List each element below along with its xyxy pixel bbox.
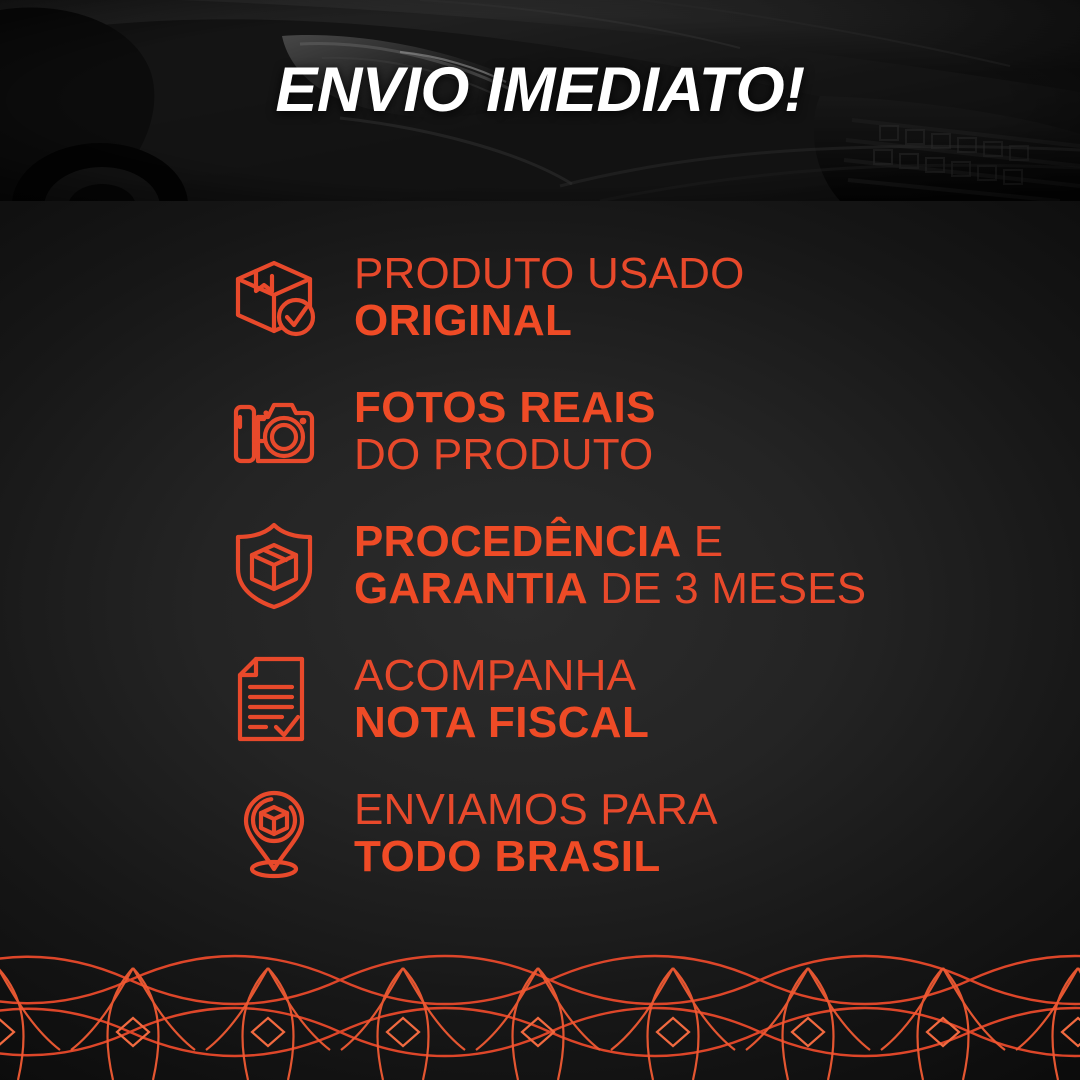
feature-line-1-bold: PROCEDÊNCIA [354,517,681,566]
feature-item-produto-original: PRODUTO USADO ORIGINAL [222,243,1080,351]
feature-line-2: NOTA FISCAL [354,699,649,746]
feature-line-1: ACOMPANHA [354,652,649,699]
box-check-icon [222,245,326,349]
feature-line-1: PROCEDÊNCIA E [354,518,866,565]
hero-banner: ENVIO IMEDIATO! [0,0,1080,201]
floral-line-pattern-border [0,940,1080,1080]
feature-line-1: FOTOS REAIS [354,384,656,431]
feature-line-2-light: DE 3 MESES [588,564,867,613]
feature-item-nota-fiscal: ACOMPANHA NOTA FISCAL [222,645,1080,753]
feature-text: ACOMPANHA NOTA FISCAL [354,652,649,746]
feature-text: PROCEDÊNCIA E GARANTIA DE 3 MESES [354,518,866,612]
feature-text: FOTOS REAIS DO PRODUTO [354,384,656,478]
feature-line-2: GARANTIA DE 3 MESES [354,565,866,612]
camera-icon [222,379,326,483]
feature-line-2-bold: GARANTIA [354,564,588,613]
feature-list: PRODUTO USADO ORIGINAL [0,243,1080,887]
map-pin-box-icon [222,781,326,885]
bottom-ornament [0,940,1080,1080]
feature-line-1-light: E [681,517,723,566]
invoice-document-icon [222,647,326,751]
feature-item-todo-brasil: ENVIAMOS PARA TODO BRASIL [222,779,1080,887]
feature-line-2: TODO BRASIL [354,833,718,880]
shield-box-icon [222,513,326,617]
feature-text: ENVIAMOS PARA TODO BRASIL [354,786,718,880]
feature-line-2: DO PRODUTO [354,431,656,478]
feature-line-2: ORIGINAL [354,297,745,344]
feature-line-1: PRODUTO USADO [354,250,745,297]
feature-item-fotos-reais: FOTOS REAIS DO PRODUTO [222,377,1080,485]
feature-item-procedencia-garantia: PROCEDÊNCIA E GARANTIA DE 3 MESES [222,511,1080,619]
feature-line-1: ENVIAMOS PARA [354,786,718,833]
feature-text: PRODUTO USADO ORIGINAL [354,250,745,344]
promo-banner-page: ENVIO IMEDIATO! PRODUTO USADO ORIGINAL [0,0,1080,1080]
banner-title: ENVIO IMEDIATO! [0,0,1080,201]
